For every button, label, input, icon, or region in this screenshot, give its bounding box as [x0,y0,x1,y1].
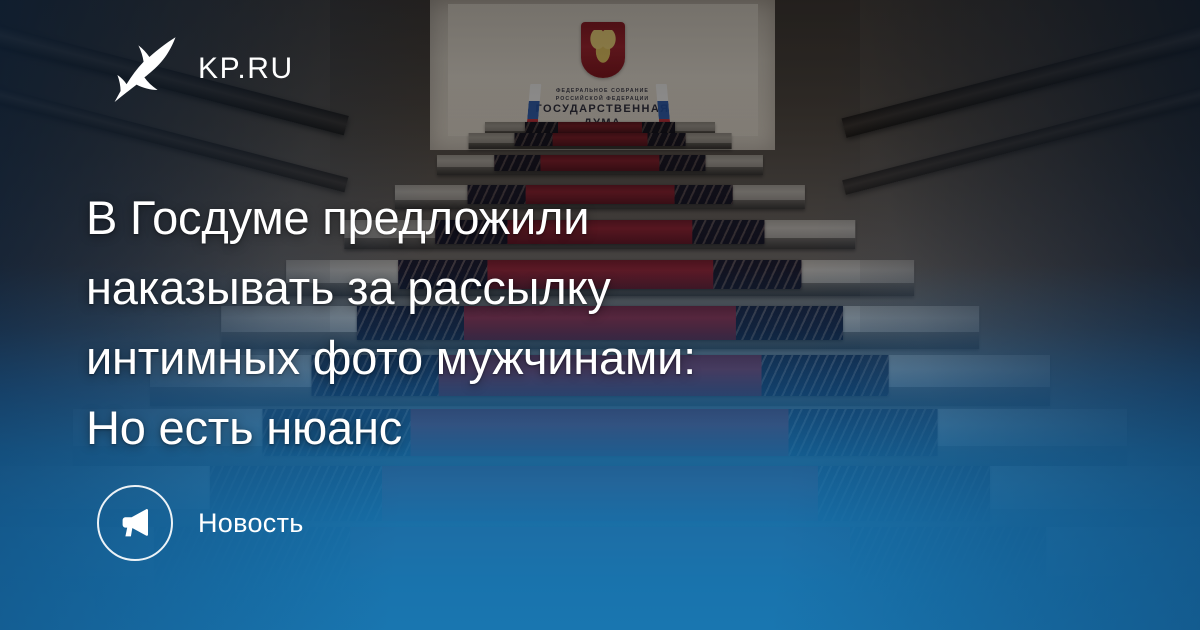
news-share-card: ФЕДЕРАЛЬНОЕ СОБРАНИЕ РОССИЙСКОЙ ФЕДЕРАЦИ… [0,0,1200,630]
headline-line-4: Но есть нюанс [86,393,926,463]
headline-line-3: интимных фото мужчинами: [86,323,926,393]
headline-line-1: В Госдуме предложили [86,183,926,253]
page-title: В Госдуме предложили наказывать за рассы… [86,183,926,463]
headline-line-2: наказывать за рассылку [86,253,926,323]
megaphone-icon [117,505,153,541]
brand-logo[interactable]: KP.RU [112,36,294,102]
status-badge[interactable]: Новость [97,485,304,561]
card-content: KP.RU В Госдуме предложили наказывать за… [0,0,1200,630]
badge-icon-circle [97,485,173,561]
badge-label: Новость [198,510,304,537]
brand-name: KP.RU [198,54,294,84]
swallow-bird-icon [112,36,176,102]
